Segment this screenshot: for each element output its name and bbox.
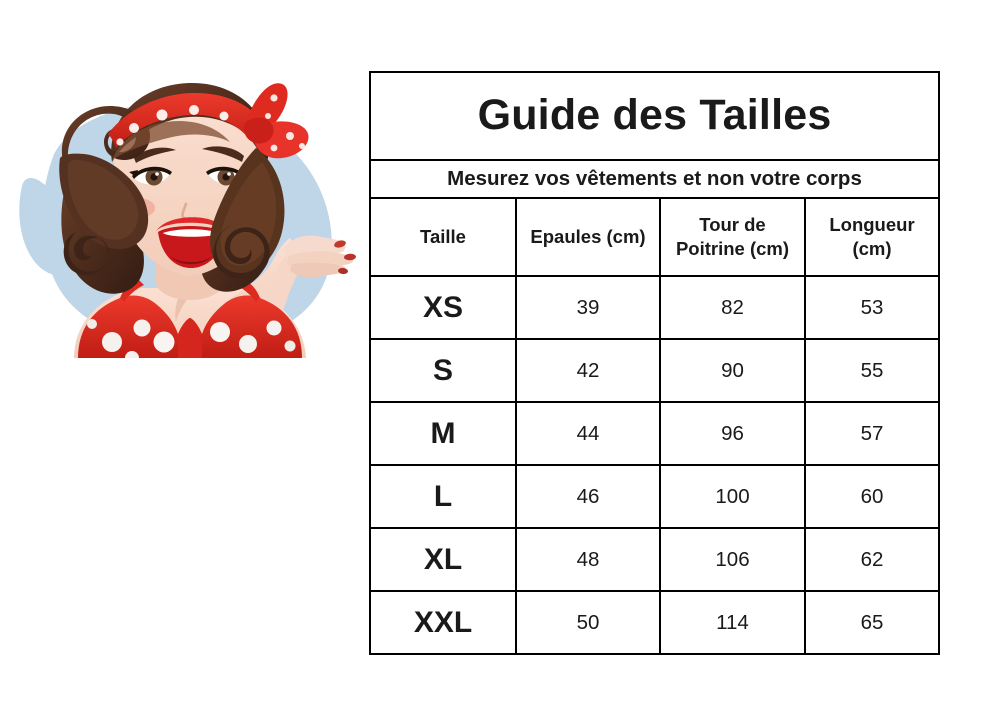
column-header-tour-de-poitrine-line-1: Tour de — [699, 214, 765, 235]
cell-chest: 100 — [660, 465, 805, 528]
column-header-taille: Taille — [370, 198, 516, 276]
cell-shoulders: 46 — [516, 465, 660, 528]
column-header-epaules-line-1: Epaules (cm) — [530, 226, 645, 247]
cell-length: 55 — [805, 339, 939, 402]
cell-size: XL — [370, 528, 516, 591]
cell-chest: 114 — [660, 591, 805, 654]
table-header-row: Taille Epaules (cm) Tour de Poitrine (cm… — [370, 198, 939, 276]
cell-shoulders: 48 — [516, 528, 660, 591]
page-title: Guide des Tailles — [370, 72, 939, 160]
table-row: L 46 100 60 — [370, 465, 939, 528]
cell-shoulders: 39 — [516, 276, 660, 339]
cell-shoulders: 50 — [516, 591, 660, 654]
column-header-taille-line-1: Taille — [420, 226, 466, 247]
title-row: Guide des Tailles — [370, 72, 939, 160]
cell-length: 53 — [805, 276, 939, 339]
cell-chest: 106 — [660, 528, 805, 591]
table-row: S 42 90 55 — [370, 339, 939, 402]
cell-length: 57 — [805, 402, 939, 465]
subtitle-row: Mesurez vos vêtements et non votre corps — [370, 160, 939, 198]
column-header-longueur: Longueur (cm) — [805, 198, 939, 276]
table-row: M 44 96 57 — [370, 402, 939, 465]
cell-size: L — [370, 465, 516, 528]
page-subtitle: Mesurez vos vêtements et non votre corps — [370, 160, 939, 198]
table-row: XL 48 106 62 — [370, 528, 939, 591]
cell-size: XS — [370, 276, 516, 339]
cell-length: 60 — [805, 465, 939, 528]
column-header-tour-de-poitrine-line-2: Poitrine (cm) — [676, 238, 789, 259]
cell-length: 65 — [805, 591, 939, 654]
cell-shoulders: 42 — [516, 339, 660, 402]
cell-chest: 82 — [660, 276, 805, 339]
column-header-tour-de-poitrine: Tour de Poitrine (cm) — [660, 198, 805, 276]
size-guide-table: Guide des Tailles Mesurez vos vêtements … — [369, 71, 940, 655]
cell-chest: 96 — [660, 402, 805, 465]
cell-shoulders: 44 — [516, 402, 660, 465]
column-header-longueur-line-1: Longueur — [829, 214, 914, 235]
cell-size: XXL — [370, 591, 516, 654]
cell-chest: 90 — [660, 339, 805, 402]
column-header-epaules: Epaules (cm) — [516, 198, 660, 276]
column-header-longueur-line-2: (cm) — [852, 238, 891, 259]
table-row: XXL 50 114 65 — [370, 591, 939, 654]
pinup-woman-illustration — [16, 36, 362, 376]
cell-length: 62 — [805, 528, 939, 591]
cell-size: S — [370, 339, 516, 402]
cell-size: M — [370, 402, 516, 465]
table-row: XS 39 82 53 — [370, 276, 939, 339]
